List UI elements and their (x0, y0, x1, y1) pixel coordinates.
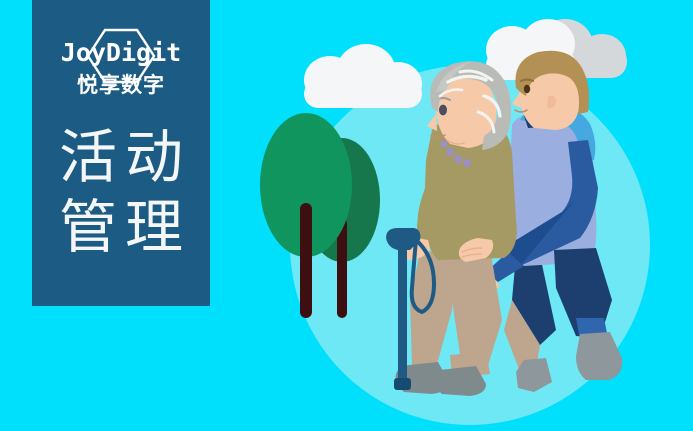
page-title-line-1: 活动 (32, 122, 210, 192)
page-title-line-2: 管理 (32, 192, 210, 262)
poster-canvas: JoyDigit 悦享数字 活动 管理 (0, 0, 693, 431)
title-panel: JoyDigit 悦享数字 活动 管理 (32, 0, 210, 306)
logo-wordmark: JoyDigit (46, 39, 196, 67)
brand-logo: JoyDigit 悦享数字 (46, 26, 196, 102)
cloud-left-icon (304, 44, 422, 108)
logo-subtitle: 悦享数字 (46, 72, 196, 98)
